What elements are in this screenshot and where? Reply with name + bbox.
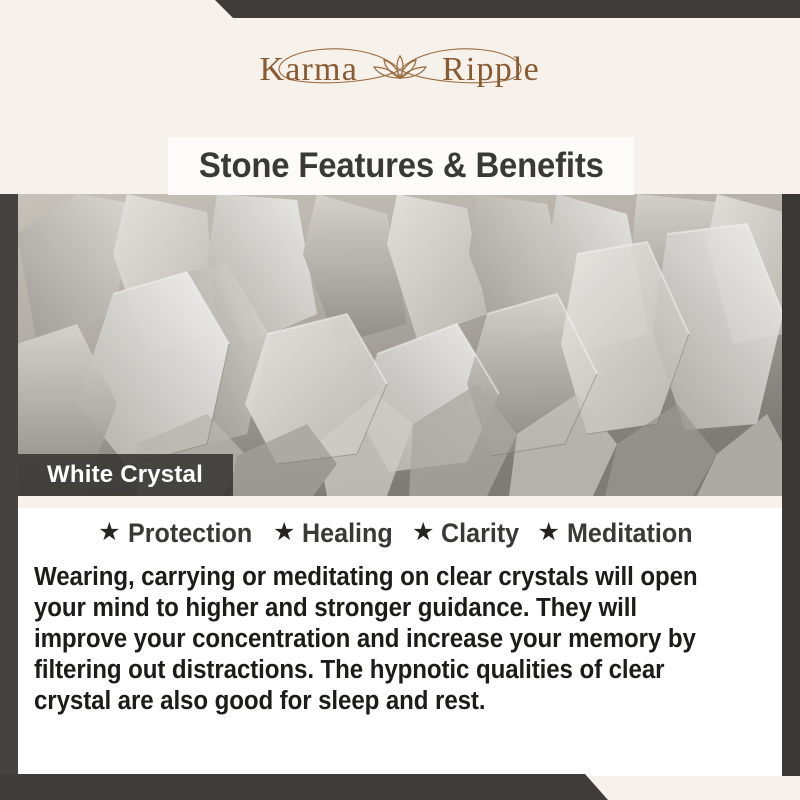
infographic-card: Karma Ripple Stone Features & Benefits	[0, 0, 800, 800]
crystal-photo-art	[17, 194, 783, 496]
star-icon: ★	[273, 520, 295, 545]
feature-item-meditation: ★ Meditation	[537, 518, 701, 549]
page-title: Stone Features & Benefits	[199, 146, 604, 186]
lotus-icon	[374, 56, 426, 78]
feature-item-healing: ★ Healing	[273, 518, 400, 549]
feature-item-clarity: ★ Clarity	[412, 518, 525, 549]
feature-label: Clarity	[441, 518, 519, 549]
feature-label: Healing	[302, 518, 393, 549]
feature-label: Meditation	[567, 518, 693, 549]
stone-name-badge: White Crystal	[17, 454, 233, 496]
title-card: Stone Features & Benefits	[168, 137, 634, 195]
frame-top-accent	[0, 0, 800, 18]
frame-bottom-accent	[0, 774, 800, 800]
content-panel: ★ Protection ★ Healing ★ Clarity ★ Medit…	[17, 496, 783, 776]
brand-logo: Karma Ripple	[0, 36, 800, 104]
features-row: ★ Protection ★ Healing ★ Clarity ★ Medit…	[17, 518, 783, 549]
frame-left-accent	[0, 194, 18, 776]
crystal-photo: White Crystal	[17, 194, 783, 496]
brand-logo-svg: Karma Ripple	[250, 36, 550, 104]
star-icon: ★	[98, 520, 120, 545]
brand-word-right: Ripple	[442, 51, 540, 88]
star-icon: ★	[537, 520, 559, 545]
content-top-divider	[17, 496, 783, 508]
feature-item-protection: ★ Protection	[98, 518, 261, 549]
stone-name-text: White Crystal	[17, 461, 203, 489]
feature-label: Protection	[128, 518, 252, 549]
star-icon: ★	[412, 520, 434, 545]
description-paragraph: Wearing, carrying or meditating on clear…	[34, 562, 726, 717]
brand-word-left: Karma	[259, 51, 358, 88]
frame-right-accent	[782, 194, 800, 776]
